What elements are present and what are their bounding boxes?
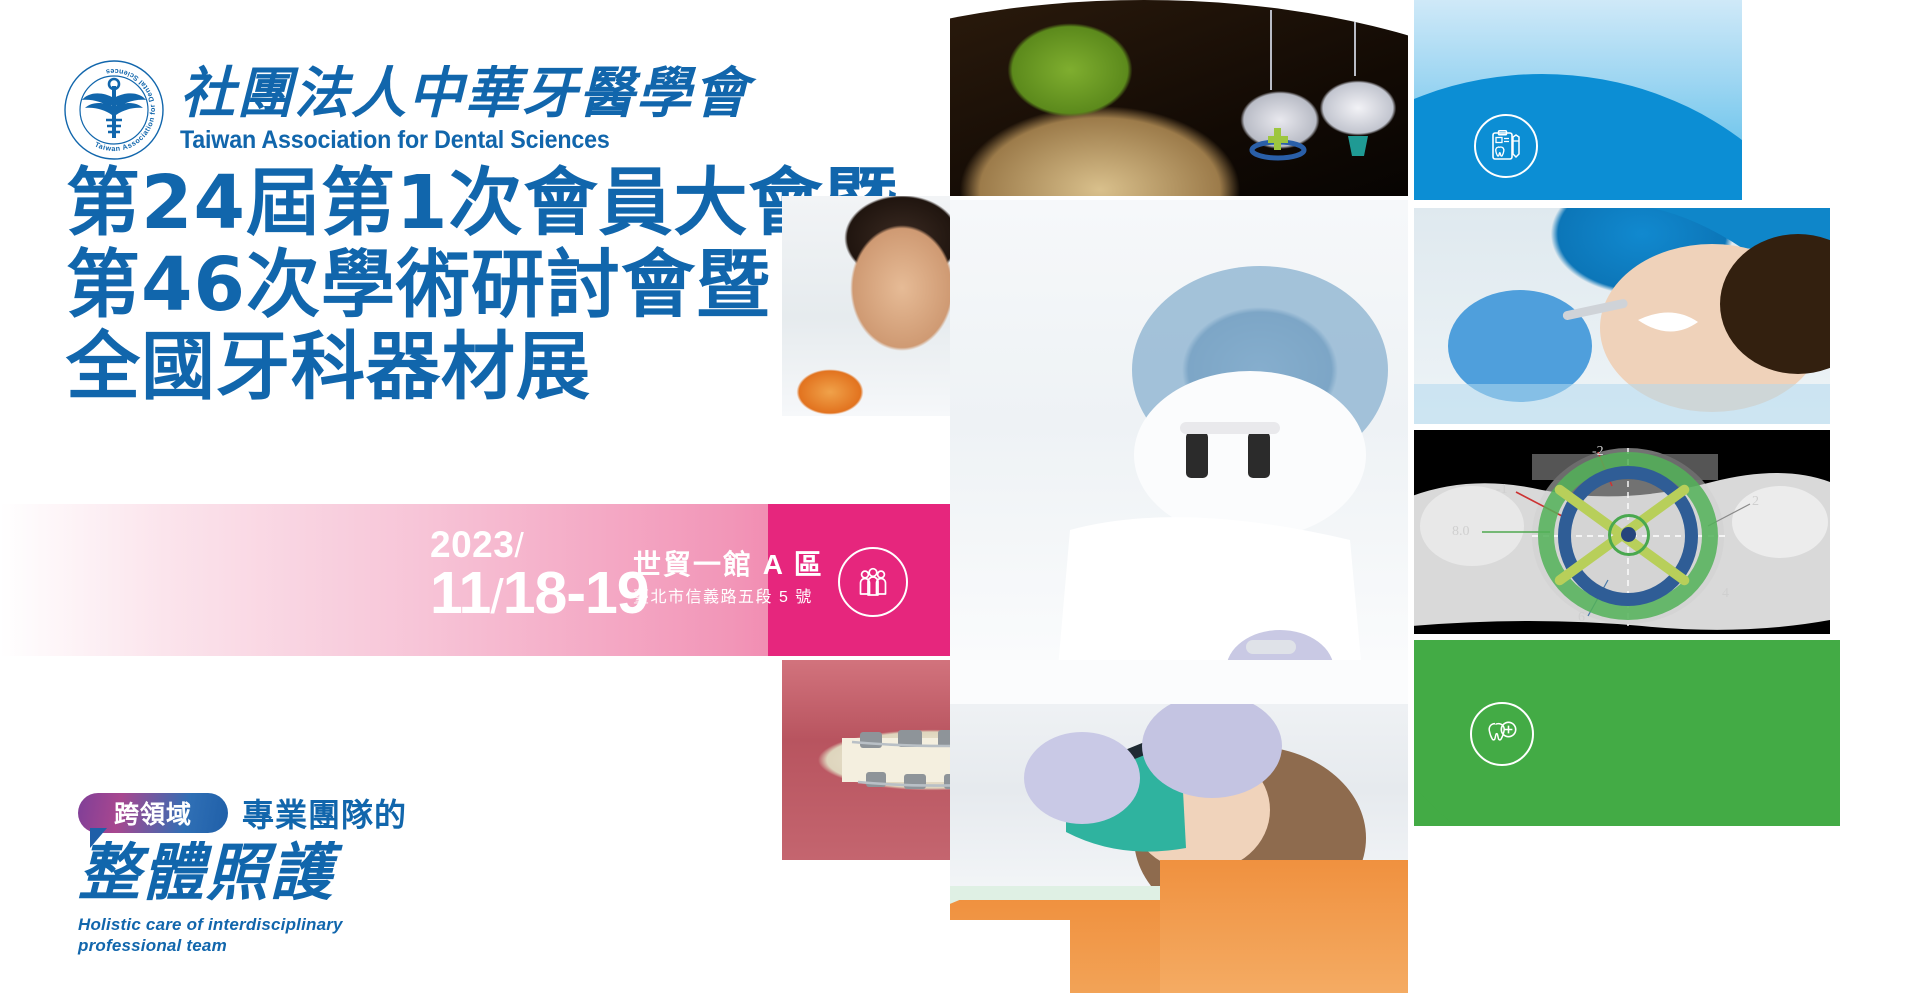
page-title: 第24屆第1次會員大會暨 第46次學術研討會暨 全國牙科器材展: [66, 162, 898, 408]
photo-collage: -2 -1 2 8.0 4 6: [950, 0, 1919, 993]
title-line-1: 第24屆第1次會員大會暨: [66, 162, 898, 244]
organization-names: 社團法人中華牙醫學會 Taiwan Association for Dental…: [180, 66, 750, 155]
tagline-headline: 整體照護: [78, 838, 407, 908]
event-date: 2023/ 11/18-19: [430, 526, 649, 628]
badge-tail-decoration: [90, 828, 107, 848]
cad-label: 4: [1722, 586, 1729, 602]
venue-name: 世貿一館 A 區: [633, 548, 824, 582]
tagline-sub: 專業團隊的: [242, 790, 407, 836]
tile-divider: [950, 920, 1070, 993]
tooth-plus-shield-icon: [1470, 702, 1534, 766]
tile-divider: [1412, 424, 1872, 430]
caduceus-emblem-icon: Taiwan Association for Dental Sciences: [62, 58, 166, 162]
cad-label: -2: [1592, 444, 1604, 460]
tagline-en-line-2: professional team: [78, 935, 407, 956]
cad-implant-planning-photo: -2 -1 2 8.0 4 6: [1412, 430, 1830, 638]
tile-divider: [1412, 634, 1872, 640]
tile-divider: [1742, 0, 1919, 200]
cad-label: 6: [1578, 610, 1585, 626]
cad-label: 2: [1752, 494, 1759, 510]
title-line-2: 第46次學術研討會暨: [66, 244, 898, 326]
cad-label: 8.0: [1452, 524, 1470, 540]
tile-divider: [950, 196, 1412, 200]
event-poster: Taiwan Association for Dental Sciences 社…: [0, 0, 1919, 993]
event-month-day: 11/18-19: [430, 563, 649, 628]
tile-divider: [1840, 640, 1919, 993]
interdisciplinary-badge: 跨領域: [78, 793, 228, 833]
three-people-icon: [838, 547, 908, 617]
tagline-en-line-1: Holistic care of interdisciplinary: [78, 914, 407, 935]
green-info-panel: [1412, 640, 1840, 828]
badge-label: 跨領域: [114, 795, 192, 831]
cad-label: -1: [1496, 482, 1508, 498]
cad-center-dot: [1621, 527, 1636, 542]
org-name-en: Taiwan Association for Dental Sciences: [180, 125, 710, 155]
event-venue: 世貿一館 A 區 臺北市信義路五段 5 號: [633, 548, 824, 610]
tile-divider: [1412, 200, 1872, 206]
year-value: 2023: [430, 524, 514, 565]
tagline-english: Holistic care of interdisciplinary profe…: [78, 914, 407, 956]
blue-info-panel: [1412, 0, 1742, 200]
month-value: 11: [430, 560, 490, 626]
dental-chart-clipboard-icon: [1474, 114, 1538, 178]
organization-logo-block: Taiwan Association for Dental Sciences 社…: [62, 58, 750, 162]
tile-divider: [1412, 826, 1872, 993]
orange-accent-panel-secondary: [1160, 860, 1420, 993]
org-name-zh: 社團法人中華牙醫學會: [180, 66, 750, 121]
venue-address: 臺北市信義路五段 5 號: [633, 586, 824, 610]
md-slash: /: [490, 571, 502, 624]
title-line-3: 全國牙科器材展: [66, 326, 898, 408]
patient-dental-chair-photo: [1412, 208, 1830, 428]
tagline-row-one: 跨領域 專業團隊的: [78, 790, 407, 836]
implant-cad-render-photo: [950, 0, 1412, 220]
blue-panel-wave: [1412, 0, 1742, 200]
tagline-block: 跨領域 專業團隊的 整體照護 Holistic care of interdis…: [78, 790, 407, 956]
days-value: 18-19: [503, 560, 649, 626]
